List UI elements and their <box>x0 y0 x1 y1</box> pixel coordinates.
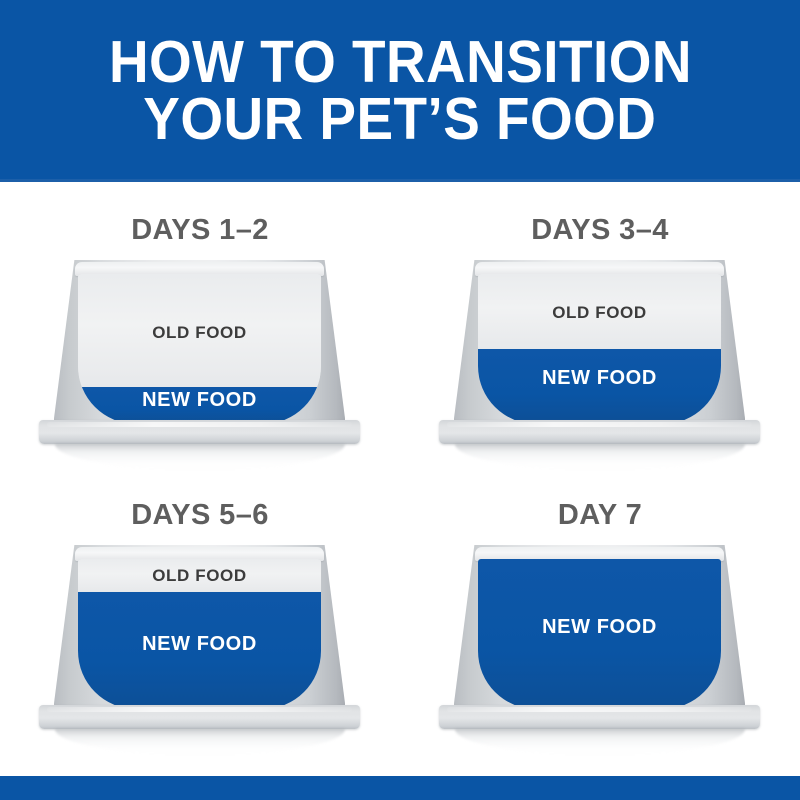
bowl-shadow <box>455 729 745 755</box>
bowl-cavity: OLD FOOD NEW FOOD <box>478 274 721 424</box>
bowl-base-highlight <box>47 422 352 427</box>
step-panel-days-3-4: DAYS 3–4 OLD FOOD NEW FOOD <box>400 200 800 485</box>
footer-bar <box>0 776 800 800</box>
bowl-base-highlight <box>447 422 752 427</box>
bowl-shadow <box>455 444 745 470</box>
old-food-label: OLD FOOD <box>78 566 321 586</box>
old-food-label: OLD FOOD <box>78 323 321 343</box>
infographic-page: HOW TO TRANSITION YOUR PET’S FOOD DAYS 1… <box>0 0 800 800</box>
food-bowl: OLD FOOD NEW FOOD <box>37 545 362 750</box>
old-food-fill: OLD FOOD <box>78 559 321 592</box>
new-food-fill: NEW FOOD <box>478 559 721 709</box>
step-panel-days-1-2: DAYS 1–2 OLD FOOD NEW FOOD <box>0 200 400 485</box>
header-banner: HOW TO TRANSITION YOUR PET’S FOOD <box>0 0 800 182</box>
food-bowl: OLD FOOD NEW FOOD <box>437 260 762 465</box>
page-title-line-1: HOW TO TRANSITION <box>108 35 691 90</box>
steps-grid: DAYS 1–2 OLD FOOD NEW FOOD <box>0 182 800 776</box>
step-label: DAYS 3–4 <box>400 214 800 247</box>
new-food-fill: NEW FOOD <box>78 592 321 709</box>
new-food-fill: NEW FOOD <box>78 387 321 425</box>
new-food-label: NEW FOOD <box>78 389 321 412</box>
new-food-label: NEW FOOD <box>78 633 321 656</box>
new-food-label: NEW FOOD <box>478 616 721 639</box>
old-food-fill: OLD FOOD <box>478 274 721 349</box>
food-bowl: OLD FOOD NEW FOOD <box>37 260 362 465</box>
step-panel-days-5-6: DAYS 5–6 OLD FOOD NEW FOOD <box>0 485 400 770</box>
step-label: DAYS 1–2 <box>0 214 400 247</box>
bowl-shadow <box>55 729 345 755</box>
bowl-shadow <box>55 444 345 470</box>
step-label: DAYS 5–6 <box>0 499 400 532</box>
bowl-cavity: OLD FOOD NEW FOOD <box>78 559 321 709</box>
new-food-fill: NEW FOOD <box>478 349 721 424</box>
new-food-label: NEW FOOD <box>478 367 721 390</box>
step-panel-day-7: DAY 7 OLD FOOD NEW FOOD <box>400 485 800 770</box>
page-title-line-2: YOUR PET’S FOOD <box>143 92 656 147</box>
bowl-base-highlight <box>47 707 352 712</box>
bowl-cavity: OLD FOOD NEW FOOD <box>78 274 321 424</box>
food-bowl: OLD FOOD NEW FOOD <box>437 545 762 750</box>
bowl-base-highlight <box>447 707 752 712</box>
old-food-label: OLD FOOD <box>478 303 721 323</box>
bowl-cavity: OLD FOOD NEW FOOD <box>478 559 721 709</box>
step-label: DAY 7 <box>400 499 800 532</box>
old-food-fill: OLD FOOD <box>78 274 321 387</box>
